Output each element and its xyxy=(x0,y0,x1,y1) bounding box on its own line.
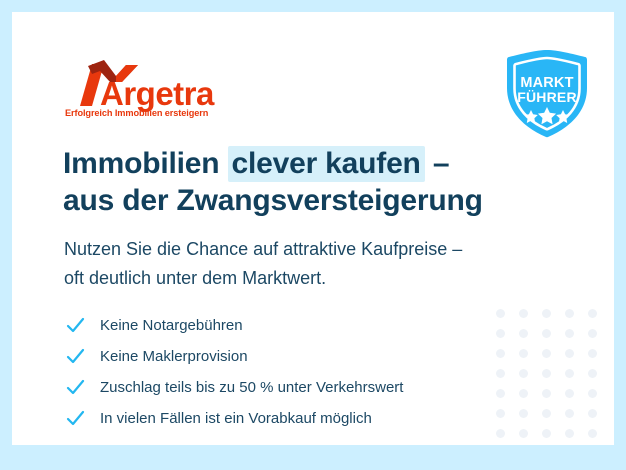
decorative-dot xyxy=(542,329,551,338)
benefit-label: Keine Notargebühren xyxy=(100,316,243,335)
check-icon xyxy=(66,347,85,366)
decorative-dot xyxy=(565,429,574,438)
decorative-dot xyxy=(565,329,574,338)
benefit-list: Keine Notargebühren Keine Maklerprovisio… xyxy=(66,310,536,434)
decorative-dot xyxy=(542,349,551,358)
decorative-dot xyxy=(565,349,574,358)
decorative-dot xyxy=(542,409,551,418)
decorative-dot xyxy=(588,429,597,438)
headline-before: Immobilien xyxy=(63,147,228,180)
decorative-dot xyxy=(542,369,551,378)
argetra-logo[interactable]: Argetra Erfolgreich Immobilien ersteiger… xyxy=(64,56,216,118)
svg-text:Argetra: Argetra xyxy=(100,75,215,112)
check-icon xyxy=(66,378,85,397)
headline-line-1: Immobilien clever kaufen – xyxy=(63,145,583,182)
svg-text:Erfolgreich Immobilien ersteig: Erfolgreich Immobilien ersteigern xyxy=(65,108,209,118)
subheadline: Nutzen Sie die Chance auf attraktive Kau… xyxy=(64,235,584,293)
benefit-label: In vielen Fällen ist ein Vorabkauf mögli… xyxy=(100,409,372,428)
benefit-label: Keine Maklerprovision xyxy=(100,347,248,366)
page-title: Immobilien clever kaufen – aus der Zwang… xyxy=(63,145,583,219)
benefit-label: Zuschlag teils bis zu 50 % unter Verkehr… xyxy=(100,378,403,397)
decorative-dot xyxy=(542,389,551,398)
decorative-dot xyxy=(542,309,551,318)
decorative-dot xyxy=(565,369,574,378)
content-card: Argetra Erfolgreich Immobilien ersteiger… xyxy=(12,12,614,445)
headline-highlight: clever kaufen xyxy=(228,146,425,182)
headline-line-2: aus der Zwangsversteigerung xyxy=(63,182,583,219)
list-item: In vielen Fällen ist ein Vorabkauf mögli… xyxy=(66,403,536,434)
subheadline-line-1: Nutzen Sie die Chance auf attraktive Kau… xyxy=(64,235,584,264)
headline-after: – xyxy=(425,147,450,180)
decorative-dot xyxy=(588,309,597,318)
badge-line2: FÜHRER xyxy=(517,89,577,105)
list-item: Keine Notargebühren xyxy=(66,310,536,341)
decorative-dot xyxy=(565,409,574,418)
decorative-dot xyxy=(565,309,574,318)
decorative-dot xyxy=(588,369,597,378)
decorative-dot xyxy=(565,389,574,398)
market-leader-badge: MARKT FÜHRER MARKT FÜHRER xyxy=(499,48,595,140)
decorative-dot xyxy=(588,409,597,418)
decorative-dot xyxy=(542,429,551,438)
list-item: Keine Maklerprovision xyxy=(66,341,536,372)
promo-banner: Argetra Erfolgreich Immobilien ersteiger… xyxy=(0,0,626,470)
subheadline-line-2: oft deutlich unter dem Marktwert. xyxy=(64,264,584,293)
list-item: Zuschlag teils bis zu 50 % unter Verkehr… xyxy=(66,372,536,403)
check-icon xyxy=(66,409,85,428)
decorative-dot xyxy=(588,389,597,398)
decorative-dot xyxy=(588,329,597,338)
decorative-dot xyxy=(588,349,597,358)
check-icon xyxy=(66,316,85,335)
